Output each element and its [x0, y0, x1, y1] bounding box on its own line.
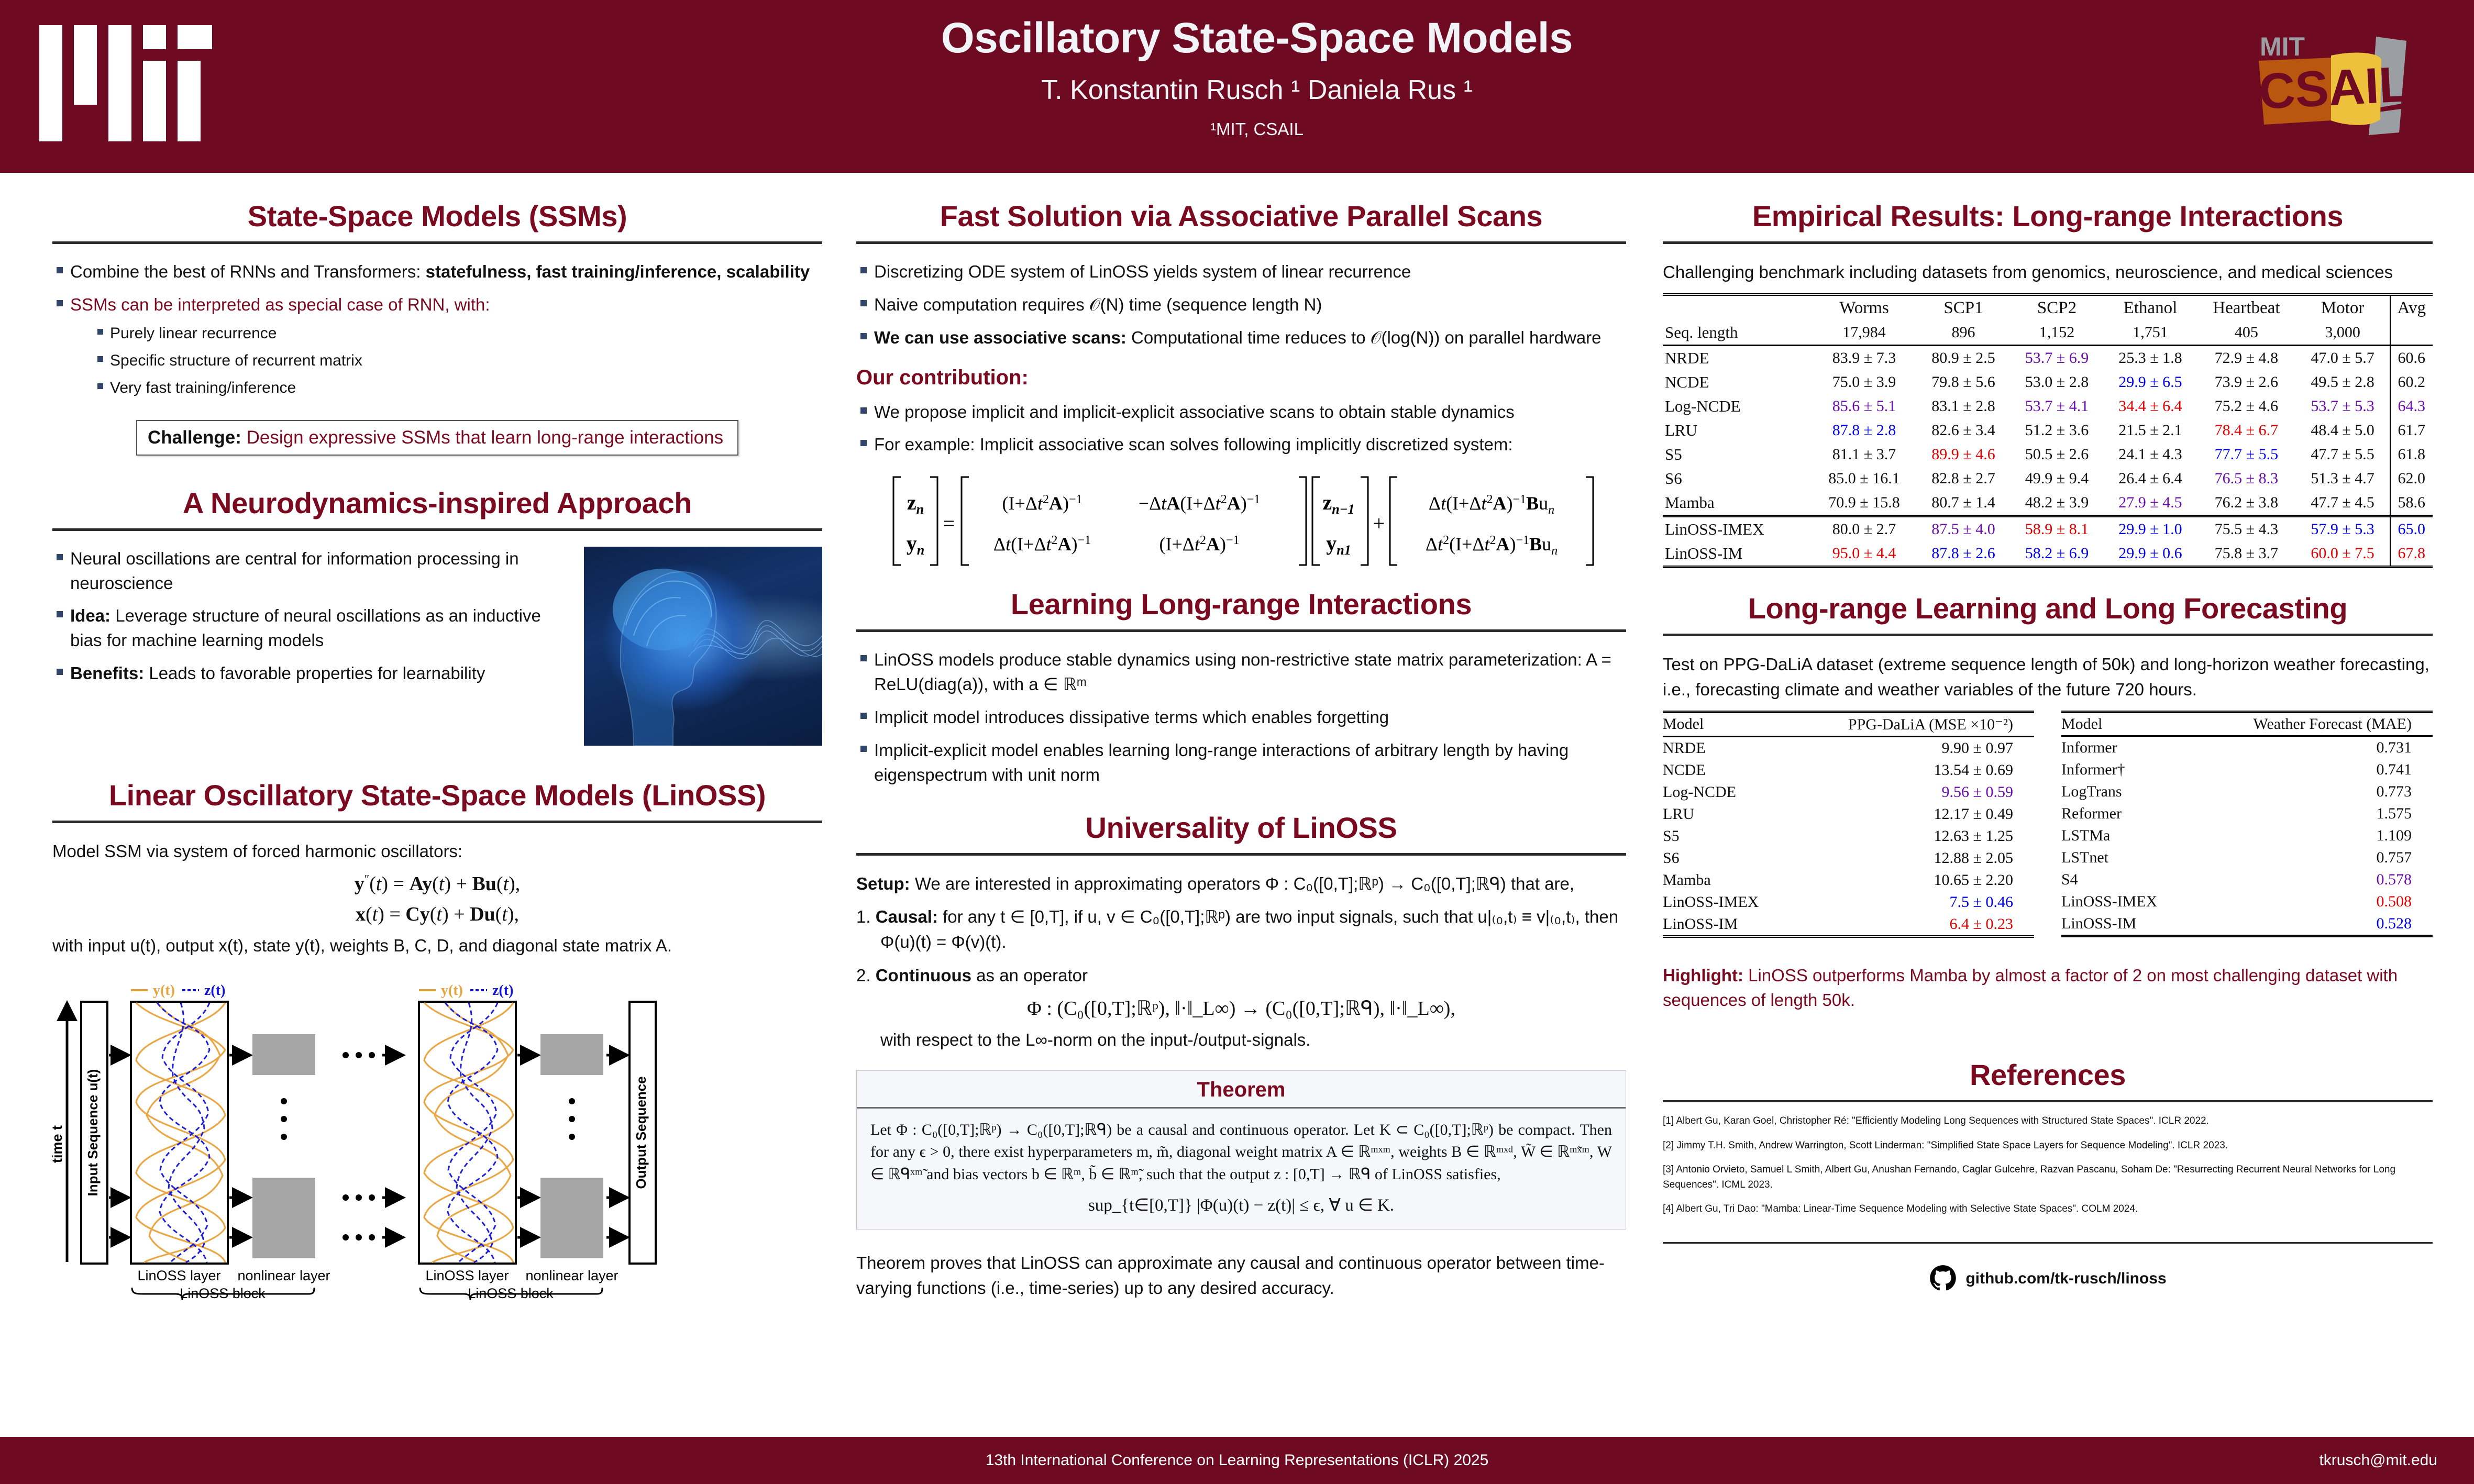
seq-length-value: 896: [1917, 320, 2010, 346]
table-row: Log-NCDE85.6 ± 5.183.1 ± 2.853.7 ± 4.134…: [1663, 394, 2433, 418]
section-title-references: References: [1663, 1058, 2433, 1092]
table-row: NRDE9.90 ± 0.97: [1663, 736, 2034, 759]
table-cell: 87.5 ± 4.0: [1917, 516, 2010, 541]
table-row: S581.1 ± 3.789.9 ± 4.650.5 ± 2.624.1 ± 4…: [1663, 442, 2433, 467]
table-cell: 53.0 ± 2.8: [2010, 370, 2103, 394]
table-cell: 47.7 ± 5.5: [2296, 442, 2390, 467]
section-title-learning: Learning Long-range Interactions: [856, 587, 1626, 621]
table-row-model: NCDE: [1663, 759, 1789, 781]
svg-text:(I+Δt2A)−1: (I+Δt2A)−1: [1159, 534, 1240, 555]
table-column-header: Worms: [1812, 294, 1917, 320]
github-url: github.com/tk-rusch/linoss: [1965, 1270, 2166, 1288]
table-cell: 12.88 ± 2.05: [1789, 847, 2034, 869]
seq-length-value: 405: [2197, 320, 2295, 346]
svg-text:Δt(I+Δt2A)−1: Δt(I+Δt2A)−1: [993, 534, 1091, 555]
table-column-header: SCP2: [2010, 294, 2103, 320]
table-cell: 75.8 ± 3.7: [2197, 541, 2295, 566]
svg-text:−ΔtA(I+Δt2A)−1: −ΔtA(I+Δt2A)−1: [1139, 493, 1260, 514]
fast-bullets: Discretizing ODE system of LinOSS yields…: [856, 260, 1626, 350]
table-cell: 80.7 ± 1.4: [1917, 491, 2010, 516]
divider: [1663, 634, 2433, 636]
table-cell: 47.0 ± 5.7: [2296, 345, 2390, 370]
table-cell: 6.4 ± 0.23: [1789, 913, 2034, 935]
table-row: S512.63 ± 1.25: [1663, 825, 2034, 847]
table-cell: 0.757: [2191, 847, 2433, 869]
divider: [52, 241, 822, 244]
table-cell: 79.8 ± 5.6: [1917, 370, 2010, 394]
table-cell: 87.8 ± 2.6: [1917, 541, 2010, 566]
divider: [856, 853, 1626, 856]
universality-item-1: 1. Causal: for any t ∈ [0,T], if u, v ∈ …: [856, 904, 1626, 955]
table-cell: 26.4 ± 6.4: [2104, 467, 2197, 491]
title-block: Oscillatory State-Space Models T. Konsta…: [812, 16, 1702, 139]
table-cell: 25.3 ± 1.8: [2104, 345, 2197, 370]
list-item: Implicit model introduces dissipative te…: [856, 705, 1626, 730]
table-row: LRU12.17 ± 0.49: [1663, 803, 2034, 825]
footer-email: tkrusch@mit.edu: [2319, 1437, 2437, 1484]
table-cell: 85.0 ± 16.1: [1812, 467, 1917, 491]
svg-text:Δt(I+Δt2A)−1Bun: Δt(I+Δt2A)−1Bun: [1429, 493, 1554, 517]
table-row-model: S4: [2061, 869, 2191, 891]
table-cell: 1.109: [2191, 825, 2433, 847]
idea-label: Idea:: [70, 606, 111, 625]
svg-text:y(t): y(t): [153, 982, 175, 999]
theorem-closing: Theorem proves that LinOSS can approxima…: [856, 1250, 1626, 1301]
table-cell: 51.2 ± 3.6: [2010, 418, 2103, 442]
table-cell: 53.7 ± 6.9: [2010, 345, 2103, 370]
references-list: [1] Albert Gu, Karan Goel, Christopher R…: [1663, 1114, 2433, 1217]
seq-length-value: 17,984: [1812, 320, 1917, 346]
contribution-bullets: We propose implicit and implicit-explici…: [856, 400, 1626, 458]
table-row-model: LSTMa: [2061, 825, 2191, 847]
table-column-header: Model: [2061, 712, 2191, 736]
table-cell: 34.4 ± 6.4: [2104, 394, 2197, 418]
challenge-label: Challenge:: [148, 427, 241, 448]
setup-label: Setup:: [856, 874, 910, 893]
table-row: LogTrans0.773: [2061, 781, 2433, 803]
table-row: NCDE13.54 ± 0.69: [1663, 759, 2034, 781]
item-2-number: 2.: [856, 966, 871, 985]
column-right: Empirical Results: Long-range Interactio…: [1663, 199, 2433, 1293]
table-column-header: Motor: [2296, 294, 2390, 320]
svg-text:LinOSS block: LinOSS block: [468, 1286, 554, 1301]
reference-item: [1] Albert Gu, Karan Goel, Christopher R…: [1663, 1114, 2433, 1129]
list-item: Naive computation requires 𝒪(N) time (se…: [856, 293, 1626, 317]
theorem-title: Theorem: [857, 1071, 1626, 1107]
table-cell: 75.0 ± 3.9: [1812, 370, 1917, 394]
table-cell: 24.1 ± 4.3: [2104, 442, 2197, 467]
table-cell: 53.7 ± 5.3: [2296, 394, 2390, 418]
table-cell: 48.4 ± 5.0: [2296, 418, 2390, 442]
challenge-text: Design expressive SSMs that learn long-r…: [247, 427, 723, 448]
linoss-equation-1: y″(t) = Ay(t) + Bu(t),: [52, 872, 822, 895]
table-row-model: Mamba: [1663, 491, 1812, 516]
universality-item-2: 2. Continuous as an operator: [856, 963, 1626, 988]
table-cell: 50.5 ± 2.6: [2010, 442, 2103, 467]
section-title-universality: Universality of LinOSS: [856, 811, 1626, 845]
setup-text: We are interested in approximating opera…: [910, 874, 1574, 893]
table-cell: 29.9 ± 1.0: [2104, 516, 2197, 541]
table-cell: 77.7 ± 5.5: [2197, 442, 2295, 467]
table-cell: 57.9 ± 5.3: [2296, 516, 2390, 541]
authors: T. Konstantin Rusch ¹ Daniela Rus ¹: [812, 74, 1702, 106]
table-cell: 53.7 ± 4.1: [2010, 394, 2103, 418]
table-cell: 29.9 ± 6.5: [2104, 370, 2197, 394]
table-row: LinOSS-IM95.0 ± 4.487.8 ± 2.658.2 ± 6.92…: [1663, 541, 2433, 566]
theorem-box: Theorem Let Φ : C₀([0,T];ℝᵖ) → C₀([0,T];…: [856, 1070, 1626, 1230]
svg-text:LinOSS block: LinOSS block: [180, 1286, 266, 1301]
table-row-model: Informer†: [2061, 759, 2191, 781]
list-item: Neural oscillations are central for info…: [52, 547, 566, 596]
list-item: We can use associative scans: Computatio…: [856, 326, 1626, 350]
poster-footer: 13th International Conference on Learnin…: [0, 1437, 2474, 1484]
table-column-header: Weather Forecast (MAE): [2191, 712, 2433, 736]
table-row: NCDE75.0 ± 3.979.8 ± 5.653.0 ± 2.829.9 ±…: [1663, 370, 2433, 394]
list-item: Implicit-explicit model enables learning…: [856, 738, 1626, 788]
page-title: Oscillatory State-Space Models: [812, 16, 1702, 61]
table-row: Informer†0.741: [2061, 759, 2433, 781]
table-cell: 0.578: [2191, 869, 2433, 891]
table-cell: 10.65 ± 2.20: [1789, 869, 2034, 891]
table-row-model: Log-NCDE: [1663, 394, 1812, 418]
svg-text:y(t): y(t): [441, 982, 463, 999]
table-column-header: Avg: [2390, 294, 2433, 320]
universality-setup: Setup: We are interested in approximatin…: [856, 871, 1626, 896]
empirical-subtitle: Challenging benchmark including datasets…: [1663, 260, 2433, 285]
table-cell: 58.2 ± 6.9: [2010, 541, 2103, 566]
linoss-architecture-diagram: time t Input Sequence u(t) y(t) z(t): [52, 971, 822, 1301]
table-row-model: Log-NCDE: [1663, 781, 1789, 803]
table-row-model: LinOSS-IM: [1663, 541, 1812, 566]
table-row: S685.0 ± 16.182.8 ± 2.749.9 ± 9.426.4 ± …: [1663, 467, 2433, 491]
table-cell: 0.731: [2191, 736, 2433, 759]
list-item: Purely linear recurrence: [94, 323, 822, 345]
table-row-model: LinOSS-IM: [2061, 913, 2191, 935]
svg-text:LinOSS layer: LinOSS layer: [137, 1268, 220, 1283]
idea-text: Leverage structure of neural oscillation…: [70, 606, 541, 650]
table-cell: 85.6 ± 5.1: [1812, 394, 1917, 418]
assoc-scan-label: We can use associative scans:: [874, 328, 1126, 347]
svg-text:nonlinear layer: nonlinear layer: [237, 1268, 330, 1283]
contribution-title: Our contribution:: [856, 366, 1626, 390]
table-row: LRU87.8 ± 2.882.6 ± 3.451.2 ± 3.621.5 ± …: [1663, 418, 2433, 442]
learning-bullets: LinOSS models produce stable dynamics us…: [856, 648, 1626, 787]
table-cell: 7.5 ± 0.46: [1789, 891, 2034, 913]
section-title-neuro: A Neurodynamics-inspired Approach: [52, 486, 822, 520]
table-cell: 9.90 ± 0.97: [1789, 736, 2034, 759]
matrix-equation: zn yn = (I+Δt2A)−1 −ΔtA(I+Δt2A)−1 Δt(I+Δ…: [856, 467, 1626, 577]
table-row: LSTMa1.109: [2061, 825, 2433, 847]
table-row-model: Mamba: [1663, 869, 1789, 891]
table-cell: 83.9 ± 7.3: [1812, 345, 1917, 370]
divider: [856, 241, 1626, 244]
svg-text:time t: time t: [52, 1125, 65, 1163]
table-cell: 29.9 ± 0.6: [2104, 541, 2197, 566]
norm-note: with respect to the L∞-norm on the input…: [880, 1027, 1626, 1053]
divider: [52, 821, 822, 823]
table-cell: 76.5 ± 8.3: [2197, 467, 2295, 491]
table-cell: 1.575: [2191, 803, 2433, 825]
ssm-sub-bullets: Purely linear recurrence Specific struct…: [94, 323, 822, 399]
ssm-bullet-2: SSMs can be interpreted as special case …: [70, 295, 490, 314]
github-icon: [1929, 1265, 1957, 1293]
table-cell: 0.741: [2191, 759, 2433, 781]
benefits-label: Benefits:: [70, 663, 144, 683]
table-cell: 60.6: [2390, 345, 2433, 370]
table-cell: 61.7: [2390, 418, 2433, 442]
table-row-model: LinOSS-IMEX: [2061, 891, 2191, 913]
table-cell: 9.56 ± 0.59: [1789, 781, 2034, 803]
table-cell: 58.9 ± 8.1: [2010, 516, 2103, 541]
table-row: NRDE83.9 ± 7.380.9 ± 2.553.7 ± 6.925.3 ±…: [1663, 345, 2433, 370]
causal-text: for any t ∈ [0,T], if u, v ∈ C₀([0,T];ℝᵖ…: [880, 907, 1618, 951]
table-row: S612.88 ± 2.05: [1663, 847, 2034, 869]
item-1-number: 1.: [856, 907, 871, 926]
reference-item: [2] Jimmy T.H. Smith, Andrew Warrington,…: [1663, 1138, 2433, 1154]
table-row-model: S6: [1663, 847, 1789, 869]
table-cell: 60.2: [2390, 370, 2433, 394]
divider: [1663, 1100, 2433, 1102]
continuous-label: Continuous: [876, 966, 971, 985]
divider: [1663, 241, 2433, 244]
svg-text:nonlinear layer: nonlinear layer: [525, 1268, 618, 1283]
benefits-text: Leads to favorable properties for learna…: [144, 663, 485, 683]
table-cell: 89.9 ± 4.6: [1917, 442, 2010, 467]
svg-text:Input Sequence u(t): Input Sequence u(t): [85, 1069, 101, 1197]
table-cell: 27.9 ± 4.5: [2104, 491, 2197, 516]
footer-conference: 13th International Conference on Learnin…: [0, 1437, 2474, 1484]
challenge-box: Challenge: Design expressive SSMs that l…: [136, 420, 738, 456]
linoss-intro: Model SSM via system of forced harmonic …: [52, 839, 822, 864]
highlight-note: Highlight: LinOSS outperforms Mamba by a…: [1663, 963, 2433, 1013]
seq-length-label: Seq. length: [1663, 320, 1812, 346]
table-column-header: SCP1: [1917, 294, 2010, 320]
table-cell: 67.8: [2390, 541, 2433, 566]
table-cell: 75.2 ± 4.6: [2197, 394, 2295, 418]
svg-text:zn−1: zn−1: [1323, 491, 1355, 517]
table-row-model: S5: [1663, 825, 1789, 847]
table-row: Mamba10.65 ± 2.20: [1663, 869, 2034, 891]
list-item: We propose implicit and implicit-explici…: [856, 400, 1626, 425]
table-cell: 13.54 ± 0.69: [1789, 759, 2034, 781]
weather-forecast-table: ModelWeather Forecast (MAE)Informer0.731…: [2061, 711, 2433, 937]
longrange-subtitle: Test on PPG-DaLiA dataset (extreme seque…: [1663, 652, 2433, 702]
svg-text:LinOSS layer: LinOSS layer: [425, 1268, 509, 1283]
table-column-header: PPG-DaLiA (MSE ×10⁻²): [1789, 712, 2034, 736]
list-item: Combine the best of RNNs and Transformer…: [52, 260, 822, 284]
table-column-header: Model: [1663, 712, 1789, 736]
poster-header: Oscillatory State-Space Models T. Konsta…: [0, 0, 2474, 173]
section-title-linoss: Linear Oscillatory State-Space Models (L…: [52, 778, 822, 812]
table-row-model: LRU: [1663, 803, 1789, 825]
affiliation: ¹MIT, CSAIL: [812, 119, 1702, 139]
table-row-model: NCDE: [1663, 370, 1812, 394]
table-cell: 87.8 ± 2.8: [1812, 418, 1917, 442]
reference-item: [3] Antonio Orvieto, Samuel L Smith, Alb…: [1663, 1162, 2433, 1192]
section-title-empirical: Empirical Results: Long-range Interactio…: [1663, 199, 2433, 233]
table-row-model: LRU: [1663, 418, 1812, 442]
theorem-body: Let Φ : C₀([0,T];ℝᵖ) → C₀([0,T];ℝᑫ) be a…: [870, 1121, 1612, 1183]
svg-text:MIT: MIT: [2260, 32, 2305, 61]
svg-text:z(t): z(t): [204, 982, 225, 999]
linoss-outro: with input u(t), output x(t), state y(t)…: [52, 933, 822, 958]
table-row: LinOSS-IMEX80.0 ± 2.787.5 ± 4.058.9 ± 8.…: [1663, 516, 2433, 541]
svg-text:z(t): z(t): [492, 982, 513, 999]
table-cell: 83.1 ± 2.8: [1917, 394, 2010, 418]
list-item: SSMs can be interpreted as special case …: [52, 293, 822, 399]
table-cell: 95.0 ± 4.4: [1812, 541, 1917, 566]
ssm-bullet-1-bold: statefulness, fast training/inference, s…: [426, 262, 810, 281]
table-cell: 58.6: [2390, 491, 2433, 516]
table-row: LinOSS-IM6.4 ± 0.23: [1663, 913, 2034, 935]
table-cell: 0.528: [2191, 913, 2433, 935]
mit-logo: [39, 25, 212, 141]
main-results-table: WormsSCP1SCP2EthanolHeartbeatMotorAvgSeq…: [1663, 293, 2433, 568]
linoss-equation-2: x(t) = Cy(t) + Du(t),: [52, 903, 822, 926]
table-cell: 48.2 ± 3.9: [2010, 491, 2103, 516]
assoc-scan-text: Computational time reduces to 𝒪(log(N)) …: [1126, 328, 1602, 347]
table-row: Mamba70.9 ± 15.880.7 ± 1.448.2 ± 3.927.9…: [1663, 491, 2433, 516]
table-row-model: LinOSS-IM: [1663, 913, 1789, 935]
table-cell: 60.0 ± 7.5: [2296, 541, 2390, 566]
table-cell: 51.3 ± 4.7: [2296, 467, 2390, 491]
table-cell: 62.0: [2390, 467, 2433, 491]
table-row: Log-NCDE9.56 ± 0.59: [1663, 781, 2034, 803]
table-cell: 76.2 ± 3.8: [2197, 491, 2295, 516]
ppg-dalia-table: ModelPPG-DaLiA (MSE ×10⁻²)NRDE9.90 ± 0.9…: [1663, 711, 2034, 938]
column-left: State-Space Models (SSMs) Combine the be…: [52, 199, 822, 1301]
svg-text:(I+Δt2A)−1: (I+Δt2A)−1: [1002, 493, 1083, 514]
divider: [856, 629, 1626, 632]
github-link[interactable]: github.com/tk-rusch/linoss: [1663, 1265, 2433, 1293]
table-cell: 12.63 ± 1.25: [1789, 825, 2034, 847]
seq-length-value: 1,152: [2010, 320, 2103, 346]
list-item: For example: Implicit associative scan s…: [856, 433, 1626, 457]
table-cell: 81.1 ± 3.7: [1812, 442, 1917, 467]
ssm-bullets: Combine the best of RNNs and Transformer…: [52, 260, 822, 399]
list-item: Very fast training/inference: [94, 377, 822, 399]
seq-length-value: 3,000: [2296, 320, 2390, 346]
table-cell: 70.9 ± 15.8: [1812, 491, 1917, 516]
neuro-bullets: Neural oscillations are central for info…: [52, 547, 566, 686]
table-row: Reformer1.575: [2061, 803, 2433, 825]
table-row-model: LSTnet: [2061, 847, 2191, 869]
seq-length-value: 1,751: [2104, 320, 2197, 346]
seq-length-value: [2390, 320, 2433, 346]
table-cell: 80.0 ± 2.7: [1812, 516, 1917, 541]
svg-text:yn: yn: [907, 531, 924, 558]
section-title-fast-solution: Fast Solution via Associative Parallel S…: [856, 199, 1626, 233]
table-row: LinOSS-IM0.528: [2061, 913, 2433, 935]
table-cell: 75.5 ± 4.3: [2197, 516, 2295, 541]
divider: [52, 528, 822, 531]
table-cell: 82.8 ± 2.7: [1917, 467, 2010, 491]
table-row-model: S5: [1663, 442, 1812, 467]
table-row-model: Reformer: [2061, 803, 2191, 825]
table-row-model: S6: [1663, 467, 1812, 491]
table-row: S40.578: [2061, 869, 2433, 891]
table-cell: 78.4 ± 6.7: [2197, 418, 2295, 442]
brain-oscillations-image: [584, 547, 822, 746]
table-row-model: NRDE: [1663, 345, 1812, 370]
svg-text:yn1: yn1: [1326, 531, 1351, 558]
table-cell: 65.0: [2390, 516, 2433, 541]
continuity-equation: Φ : (C₀([0,T];ℝᵖ), ‖·‖_L∞) → (C₀([0,T];ℝ…: [856, 996, 1626, 1020]
table-cell: 49.9 ± 9.4: [2010, 467, 2103, 491]
csail-logo: MIT CSAIL: [2228, 25, 2406, 140]
table-cell: 64.3: [2390, 394, 2433, 418]
svg-text:Output Sequence: Output Sequence: [633, 1077, 649, 1189]
table-row-model: LinOSS-IMEX: [1663, 516, 1812, 541]
table-row-model: LinOSS-IMEX: [1663, 891, 1789, 913]
table-cell: 73.9 ± 2.6: [2197, 370, 2295, 394]
highlight-text: LinOSS outperforms Mamba by almost a fac…: [1663, 966, 2398, 1010]
reference-item: [4] Albert Gu, Tri Dao: "Mamba: Linear-T…: [1663, 1202, 2433, 1217]
table-cell: 0.773: [2191, 781, 2433, 803]
list-item: Benefits: Leads to favorable properties …: [52, 661, 566, 686]
table-cell: 12.17 ± 0.49: [1789, 803, 2034, 825]
list-item: Idea: Leverage structure of neural oscil…: [52, 604, 566, 653]
ssm-bullet-1-pre: Combine the best of RNNs and Transformer…: [70, 262, 426, 281]
list-item: Discretizing ODE system of LinOSS yields…: [856, 260, 1626, 284]
section-title-ssm: State-Space Models (SSMs): [52, 199, 822, 233]
svg-text:zn: zn: [907, 491, 924, 517]
section-title-longrange: Long-range Learning and Long Forecasting: [1663, 591, 2433, 625]
list-item: Specific structure of recurrent matrix: [94, 350, 822, 372]
table-column-header: Ethanol: [2104, 294, 2197, 320]
highlight-label: Highlight:: [1663, 966, 1743, 985]
svg-text:+: +: [1373, 512, 1385, 535]
table-column-header: Heartbeat: [2197, 294, 2295, 320]
table-cell: 47.7 ± 4.5: [2296, 491, 2390, 516]
list-item: LinOSS models produce stable dynamics us…: [856, 648, 1626, 697]
table-row-model: LogTrans: [2061, 781, 2191, 803]
svg-text:CSAIL: CSAIL: [2257, 56, 2406, 120]
table-cell: 72.9 ± 4.8: [2197, 345, 2295, 370]
table-row: Informer0.731: [2061, 736, 2433, 759]
table-row-model: Informer: [2061, 736, 2191, 759]
theorem-equation: sup_{t∈[0,T]} |Φ(u)(t) − z(t)| ≤ ϵ, ∀ u …: [870, 1193, 1612, 1218]
causal-label: Causal:: [876, 907, 938, 926]
table-cell: 80.9 ± 2.5: [1917, 345, 2010, 370]
table-row: LinOSS-IMEX7.5 ± 0.46: [1663, 891, 2034, 913]
table-cell: 21.5 ± 2.1: [2104, 418, 2197, 442]
table-row: LSTnet0.757: [2061, 847, 2433, 869]
divider: [1663, 1242, 2433, 1244]
svg-text:Δt2(I+Δt2A)−1Bun: Δt2(I+Δt2A)−1Bun: [1426, 534, 1558, 558]
table-row: LinOSS-IMEX0.508: [2061, 891, 2433, 913]
column-middle: Fast Solution via Associative Parallel S…: [856, 199, 1626, 1309]
svg-text:=: =: [943, 512, 955, 535]
table-cell: 49.5 ± 2.8: [2296, 370, 2390, 394]
table-cell: 0.508: [2191, 891, 2433, 913]
table-cell: 82.6 ± 3.4: [1917, 418, 2010, 442]
table-cell: 61.8: [2390, 442, 2433, 467]
continuous-text: as an operator: [971, 966, 1088, 985]
table-row-model: NRDE: [1663, 736, 1789, 759]
